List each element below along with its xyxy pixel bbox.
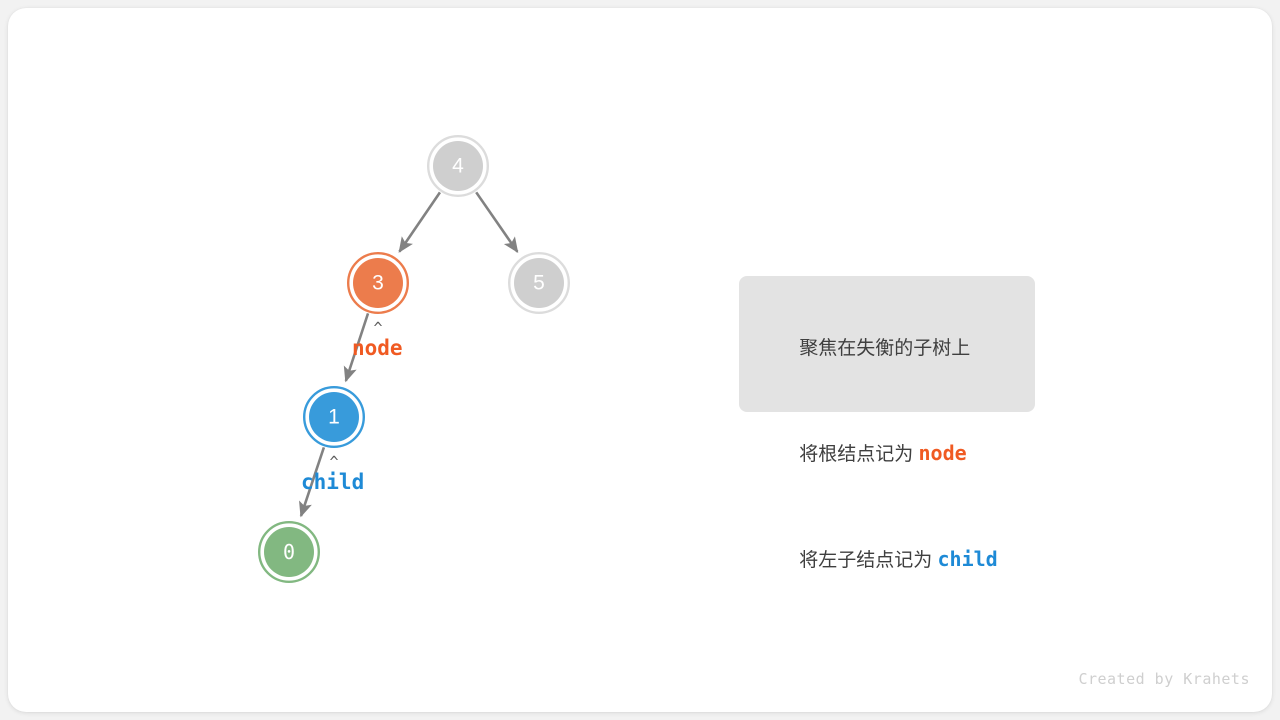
tree-diagram: 43510 ^node^child: [8, 8, 1272, 712]
tree-node: 1: [304, 387, 364, 447]
annotation-line-text: 将左子结点记为: [799, 550, 937, 571]
watermark: Created by Krahets: [1078, 670, 1250, 688]
node-value: 5: [533, 272, 545, 295]
pointer-caret-icon: ^: [329, 453, 338, 471]
tree-nodes: 43510: [259, 136, 569, 582]
annotation-line-code: node: [919, 441, 967, 465]
node-value: 4: [452, 155, 464, 178]
node-value: 1: [328, 406, 340, 429]
tree-node: 4: [428, 136, 488, 196]
annotation-line: 将根结点记为 node: [757, 401, 1035, 507]
node-value: 3: [372, 272, 384, 295]
annotation-box: 聚焦在失衡的子树上 将根结点记为 node 将左子结点记为 child: [739, 276, 1035, 412]
annotation-line: 将左子结点记为 child: [757, 507, 1035, 613]
pointer-label: node: [352, 336, 403, 360]
diagram-card: 43510 ^node^child 聚焦在失衡的子树上 将根结点记为 node …: [8, 8, 1272, 712]
node-value: 0: [283, 540, 295, 564]
annotation-line-code: child: [938, 547, 998, 571]
annotation-line: 聚焦在失衡的子树上: [757, 295, 1035, 401]
tree-node: 5: [509, 253, 569, 313]
pointer-caret-icon: ^: [373, 319, 382, 337]
tree-edge: [476, 192, 517, 251]
annotation-line-text: 将根结点记为: [799, 444, 918, 465]
tree-node: 3: [348, 253, 408, 313]
tree-edge: [399, 192, 439, 251]
pointer-label: child: [301, 470, 364, 494]
tree-node: 0: [259, 522, 319, 582]
screenshot-stage: 43510 ^node^child 聚焦在失衡的子树上 将根结点记为 node …: [0, 0, 1280, 720]
annotation-line-text: 聚焦在失衡的子树上: [799, 338, 970, 359]
